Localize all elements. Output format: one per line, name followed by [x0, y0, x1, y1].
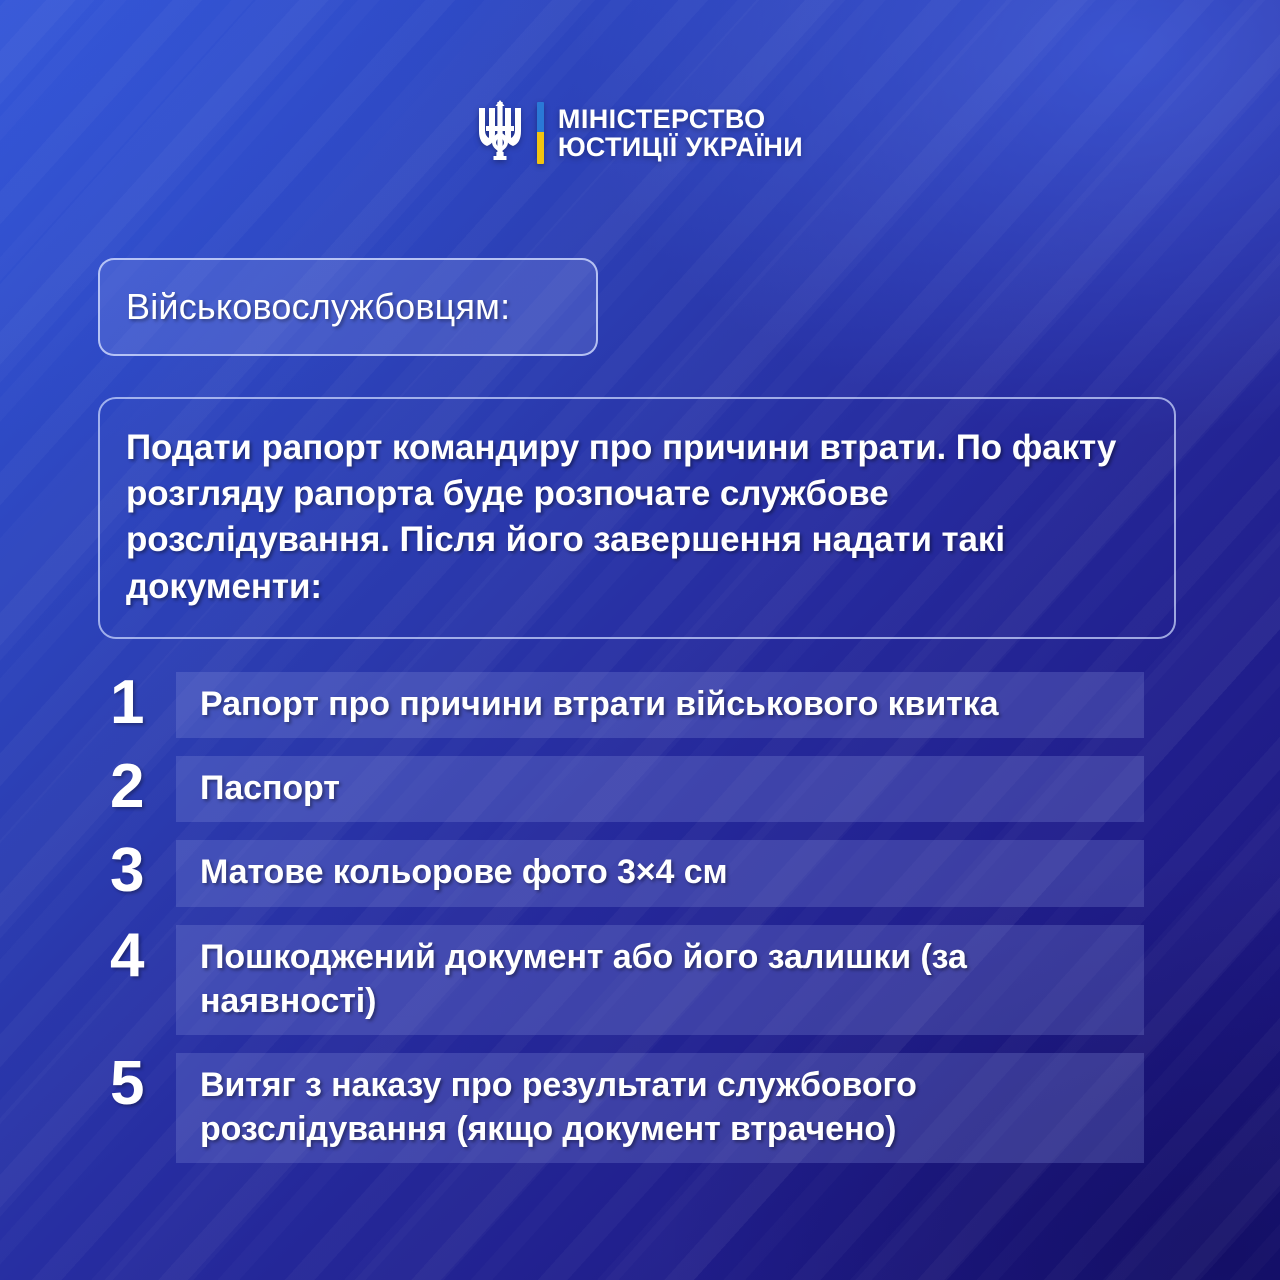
- infographic-canvas: МІНІСТЕРСТВО ЮСТИЦІЇ УКРАЇНИ Військовосл…: [0, 0, 1280, 1280]
- list-item-band: Матове кольорове фото 3×4 см: [176, 840, 1144, 906]
- list-item: 5 Витяг з наказу про результати службово…: [98, 1053, 1178, 1163]
- intro-instruction-box: Подати рапорт командиру про причини втра…: [98, 397, 1176, 639]
- list-item-number: 5: [98, 1053, 176, 1115]
- list-item-band: Пошкоджений документ або його залишки (з…: [176, 925, 1144, 1035]
- list-item-band: Витяг з наказу про результати службового…: [176, 1053, 1144, 1163]
- ministry-logo-text: МІНІСТЕРСТВО ЮСТИЦІЇ УКРАЇНИ: [558, 105, 803, 161]
- list-item: 4 Пошкоджений документ або його залишки …: [98, 925, 1178, 1035]
- list-item-number: 1: [98, 672, 176, 734]
- list-item-band: Паспорт: [176, 756, 1144, 822]
- list-item-label: Витяг з наказу про результати службового…: [200, 1063, 1122, 1151]
- ministry-logo: МІНІСТЕРСТВО ЮСТИЦІЇ УКРАЇНИ: [0, 100, 1280, 166]
- list-item-label: Матове кольорове фото 3×4 см: [200, 850, 728, 894]
- list-item-label: Паспорт: [200, 766, 340, 810]
- list-item: 2 Паспорт: [98, 756, 1178, 822]
- tryzub-icon: [477, 100, 523, 166]
- ministry-logo-line-1: МІНІСТЕРСТВО: [558, 105, 803, 133]
- list-item: 1 Рапорт про причини втрати військового …: [98, 672, 1178, 738]
- audience-heading-label: Військовослужбовцям:: [126, 286, 510, 328]
- list-item-label: Рапорт про причини втрати військового кв…: [200, 682, 998, 726]
- intro-instruction-text: Подати рапорт командиру про причини втра…: [126, 425, 1144, 610]
- list-item: 3 Матове кольорове фото 3×4 см: [98, 840, 1178, 906]
- ministry-logo-inner: МІНІСТЕРСТВО ЮСТИЦІЇ УКРАЇНИ: [477, 100, 803, 166]
- list-item-number: 4: [98, 925, 176, 987]
- audience-heading-pill: Військовослужбовцям:: [98, 258, 598, 356]
- list-item-band: Рапорт про причини втрати військового кв…: [176, 672, 1144, 738]
- ministry-logo-line-2: ЮСТИЦІЇ УКРАЇНИ: [558, 133, 803, 161]
- ukraine-flag-bar-icon: [537, 102, 544, 164]
- required-documents-list: 1 Рапорт про причини втрати військового …: [98, 672, 1178, 1181]
- list-item-label: Пошкоджений документ або його залишки (з…: [200, 935, 1122, 1023]
- list-item-number: 3: [98, 840, 176, 902]
- list-item-number: 2: [98, 756, 176, 818]
